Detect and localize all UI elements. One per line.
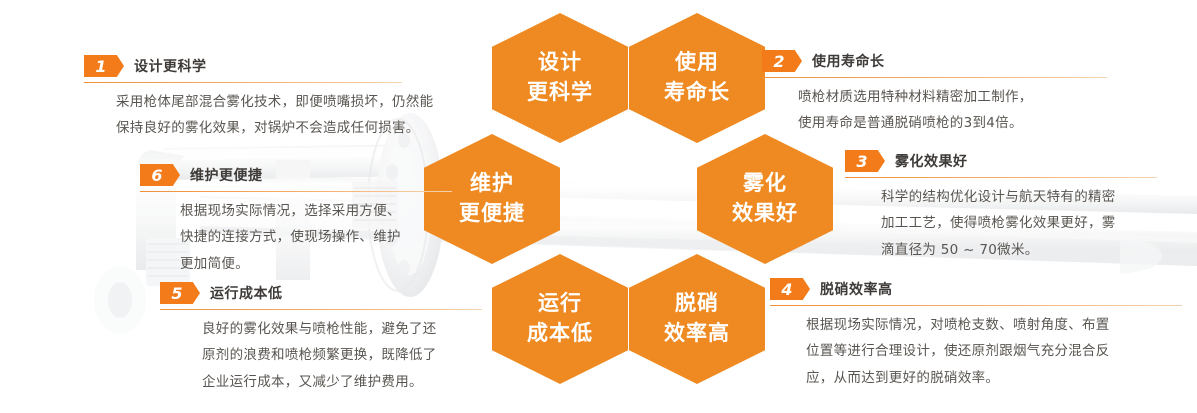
feature-3-body: 科学的结构优化设计与航天特有的精密 加工工艺，使得喷枪雾化效果更好，雾 滴直径为… (845, 184, 1165, 263)
feature-1-divider (84, 82, 402, 83)
feature-3-number-badge: 3 (845, 150, 885, 172)
hexagon-design-line2: 更科学 (527, 78, 593, 108)
feature-block-3: 3 雾化效果好 科学的结构优化设计与航天特有的精密 加工工艺，使得喷枪雾化效果更… (845, 150, 1165, 263)
feature-2-header: 2 使用寿命长 (762, 50, 1112, 72)
feature-3-line-1: 科学的结构优化设计与航天特有的精密 (881, 184, 1165, 210)
feature-5-line-1: 良好的雾化效果与喷枪性能，避免了还 (202, 316, 490, 342)
feature-5-line-3: 企业运行成本，又减少了维护费用。 (202, 369, 490, 395)
feature-4-line-3: 应，从而达到更好的脱硝效率。 (806, 365, 1190, 391)
feature-6-number-badge: 6 (140, 164, 180, 186)
hexagon-atomization-line1: 雾化 (743, 169, 787, 199)
feature-5-divider (160, 309, 482, 310)
feature-2-title: 使用寿命长 (812, 51, 885, 71)
hexagon-cost-line2: 成本低 (527, 319, 593, 349)
hexagon-atomization-line2: 效果好 (732, 199, 798, 229)
feature-block-6: 6 维护更便捷 根据现场实际情况，选择采用方便、 快捷的连接方式，使现场操作、维… (140, 164, 460, 277)
feature-4-number-badge: 4 (770, 278, 810, 300)
hexagon-lifespan-line1: 使用 (675, 48, 719, 78)
feature-block-2: 2 使用寿命长 喷枪材质选用特种材料精密加工制作， 使用寿命是普通脱硝喷枪的3到… (762, 50, 1112, 137)
feature-2-divider (762, 77, 1107, 78)
feature-6-title: 维护更便捷 (190, 165, 263, 185)
feature-3-header: 3 雾化效果好 (845, 150, 1165, 172)
hexagon-design[interactable]: 设计 更科学 (492, 13, 628, 143)
feature-6-line-2: 快捷的连接方式，使现场操作、维护 (180, 224, 460, 250)
feature-6-line-1: 根据现场实际情况，选择采用方便、 (180, 198, 460, 224)
feature-1-number-badge: 1 (84, 55, 124, 77)
feature-block-5: 5 运行成本低 良好的雾化效果与喷枪性能，避免了还 原剂的浪费和喷枪频繁更换，既… (160, 282, 490, 395)
feature-5-title: 运行成本低 (210, 283, 283, 303)
feature-4-divider (770, 305, 1182, 306)
feature-4-title: 脱硝效率高 (820, 279, 893, 299)
feature-5-header: 5 运行成本低 (160, 282, 490, 304)
hexagon-cost[interactable]: 运行 成本低 (492, 254, 628, 384)
feature-1-line-2: 保持良好的雾化效果，对锅炉不会造成任何损害。 (116, 115, 414, 141)
hexagon-denitration-line2: 效率高 (664, 319, 730, 349)
feature-6-line-3: 更加简便。 (180, 251, 460, 277)
feature-5-number-badge: 5 (160, 282, 200, 304)
feature-4-header: 4 脱硝效率高 (770, 278, 1190, 300)
feature-4-line-2: 位置等进行合理设计，使还原剂跟烟气充分混合反 (806, 338, 1190, 364)
feature-1-title: 设计更科学 (134, 56, 207, 76)
hexagon-atomization[interactable]: 雾化 效果好 (697, 134, 833, 264)
feature-6-header: 6 维护更便捷 (140, 164, 460, 186)
feature-6-body: 根据现场实际情况，选择采用方便、 快捷的连接方式，使现场操作、维护 更加简便。 (140, 198, 460, 277)
hexagon-denitration-line1: 脱硝 (675, 289, 719, 319)
feature-3-title: 雾化效果好 (895, 151, 968, 171)
feature-2-number-badge: 2 (762, 50, 802, 72)
feature-block-1: 1 设计更科学 采用枪体尾部混合雾化技术，即便喷嘴损坏，仍然能 保持良好的雾化效… (84, 55, 414, 142)
feature-1-line-1: 采用枪体尾部混合雾化技术，即便喷嘴损坏，仍然能 (116, 89, 414, 115)
feature-2-body: 喷枪材质选用特种材料精密加工制作， 使用寿命是普通脱硝喷枪的3到4倍。 (762, 84, 1112, 137)
hexagon-lifespan[interactable]: 使用 寿命长 (629, 13, 765, 143)
hexagon-lifespan-line2: 寿命长 (664, 78, 730, 108)
hexagon-design-line1: 设计 (538, 48, 582, 78)
feature-5-body: 良好的雾化效果与喷枪性能，避免了还 原剂的浪费和喷枪频繁更换，既降低了 企业运行… (160, 316, 490, 395)
feature-3-line-2: 加工工艺，使得喷枪雾化效果更好，雾 (881, 210, 1165, 236)
hexagon-maintenance-line2: 更便捷 (459, 199, 525, 229)
feature-1-header: 1 设计更科学 (84, 55, 414, 77)
feature-block-4: 4 脱硝效率高 根据现场实际情况，对喷枪支数、喷射角度、布置 位置等进行合理设计… (770, 278, 1190, 391)
infographic-canvas: 设计 更科学 使用 寿命长 维护 更便捷 雾化 效果好 运行 成本低 脱硝 效率… (0, 0, 1197, 413)
feature-1-body: 采用枪体尾部混合雾化技术，即便喷嘴损坏，仍然能 保持良好的雾化效果，对锅炉不会造… (84, 89, 414, 142)
feature-5-line-2: 原剂的浪费和喷枪频繁更换，既降低了 (202, 342, 490, 368)
hexagon-maintenance-line1: 维护 (470, 169, 514, 199)
hexagon-denitration[interactable]: 脱硝 效率高 (629, 254, 765, 384)
feature-2-line-1: 喷枪材质选用特种材料精密加工制作， (798, 84, 1112, 110)
feature-4-line-1: 根据现场实际情况，对喷枪支数、喷射角度、布置 (806, 312, 1190, 338)
feature-2-line-2: 使用寿命是普通脱硝喷枪的3到4倍。 (798, 110, 1112, 136)
feature-4-body: 根据现场实际情况，对喷枪支数、喷射角度、布置 位置等进行合理设计，使还原剂跟烟气… (770, 312, 1190, 391)
feature-6-divider (140, 191, 452, 192)
feature-3-divider (845, 177, 1157, 178)
hexagon-cost-line1: 运行 (538, 289, 582, 319)
feature-3-line-3: 滴直径为 50 ~ 70微米。 (881, 237, 1165, 263)
